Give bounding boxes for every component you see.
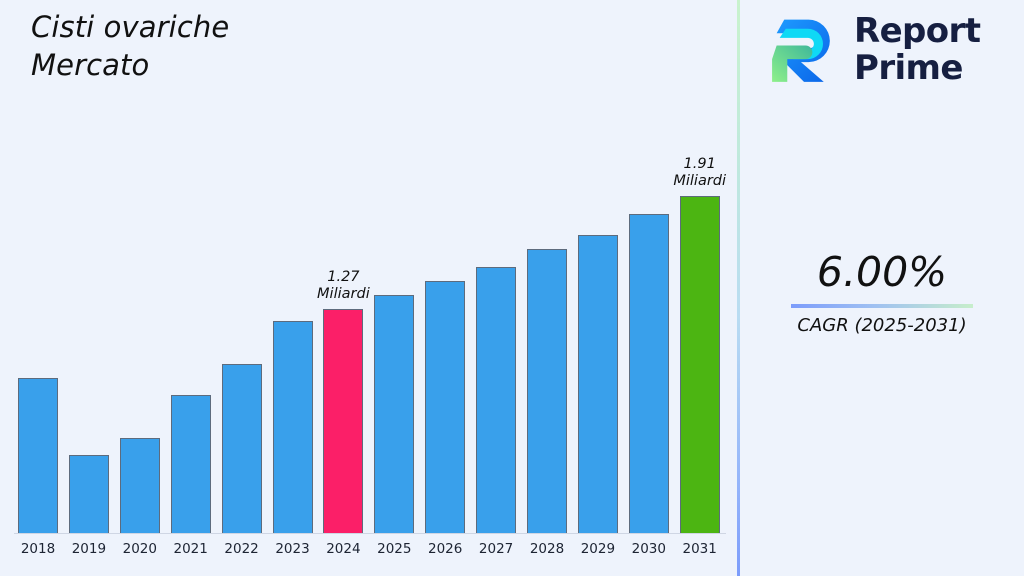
x-tick-2028: 2028 <box>523 541 571 557</box>
bar-group-2026 <box>421 43 469 533</box>
x-axis-line <box>14 533 726 534</box>
bar-2026 <box>425 281 465 533</box>
bar-2024 <box>323 309 363 533</box>
x-tick-2031: 2031 <box>676 541 724 557</box>
infographic-slide: Cisti ovariche Mercato 20182019202020212… <box>0 0 1024 576</box>
x-tick-2021: 2021 <box>167 541 215 557</box>
bar-group-2029 <box>574 43 622 533</box>
bar-group-2024: 1.27 Miliardi <box>319 43 367 533</box>
bar-2028 <box>527 249 567 533</box>
x-tick-2025: 2025 <box>370 541 418 557</box>
x-tick-2030: 2030 <box>625 541 673 557</box>
bar-2027 <box>476 267 516 533</box>
bar-2031 <box>680 196 720 533</box>
cagr-value: 6.00% <box>740 250 1024 295</box>
x-tick-2018: 2018 <box>14 541 62 557</box>
brand-logo: Report Prime <box>766 12 980 88</box>
bar-group-2020 <box>116 43 164 533</box>
bar-group-2030 <box>625 43 673 533</box>
x-tick-2022: 2022 <box>218 541 266 557</box>
bar-group-2019 <box>65 43 113 533</box>
bar-2022 <box>222 364 262 533</box>
x-tick-2023: 2023 <box>269 541 317 557</box>
x-tick-2019: 2019 <box>65 541 113 557</box>
bar-group-2025 <box>370 43 418 533</box>
cagr-block: 6.00% CAGR (2025-2031) <box>740 250 1024 336</box>
bar-value-label-2031: 1.91 Miliardi <box>652 156 748 190</box>
bar-group-2027 <box>472 43 520 533</box>
brand-name-line1: Report <box>854 13 980 50</box>
x-tick-2029: 2029 <box>574 541 622 557</box>
cagr-caption: CAGR (2025-2031) <box>740 315 1024 336</box>
x-tick-2027: 2027 <box>472 541 520 557</box>
bar-2030 <box>629 214 669 533</box>
bar-2025 <box>374 295 414 533</box>
bar-2018 <box>18 378 58 533</box>
bar-2023 <box>273 321 313 533</box>
bar-group-2022 <box>218 43 266 533</box>
x-tick-2024: 2024 <box>319 541 367 557</box>
bar-group-2021 <box>167 43 215 533</box>
cagr-divider-rule <box>791 304 973 308</box>
bar-2029 <box>578 235 618 533</box>
bar-group-2018 <box>14 43 62 533</box>
bar-2019 <box>69 455 109 533</box>
bar-group-2031: 1.91 Miliardi <box>676 43 724 533</box>
x-tick-2020: 2020 <box>116 541 164 557</box>
brand-name-line2: Prime <box>854 50 980 87</box>
bar-group-2028 <box>523 43 571 533</box>
brand-panel: Report Prime 6.00% CAGR (2025-2031) <box>740 0 1024 576</box>
report-prime-logo-icon <box>766 12 842 88</box>
chart-panel: Cisti ovariche Mercato 20182019202020212… <box>0 0 737 576</box>
brand-wordmark: Report Prime <box>854 13 980 86</box>
bar-2020 <box>120 438 160 533</box>
bar-2021 <box>171 395 211 533</box>
x-tick-2026: 2026 <box>421 541 469 557</box>
bar-chart-plot: 2018201920202021202220231.27 Miliardi202… <box>0 0 737 576</box>
